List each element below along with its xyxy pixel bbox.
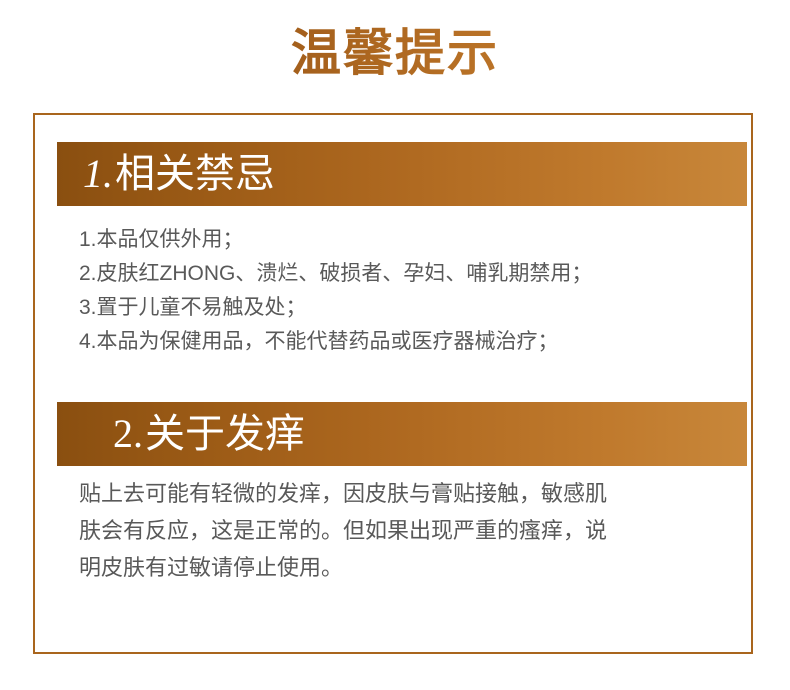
- section-header-label: 2. 关于发痒: [57, 412, 305, 456]
- list-item: 2.皮肤红ZHONG、溃烂、破损者、孕妇、哺乳期禁用；: [79, 257, 729, 291]
- list-item: 1.本品仅供外用；: [79, 223, 729, 257]
- promo-notice-page: 温馨提示 1. 相关禁忌 1.本品仅供外用； 2.皮肤红ZHONG、溃烂、破损者…: [0, 0, 790, 690]
- contraindications-list: 1.本品仅供外用； 2.皮肤红ZHONG、溃烂、破损者、孕妇、哺乳期禁用； 3.…: [79, 223, 729, 359]
- list-item: 3.置于儿童不易触及处；: [79, 291, 729, 325]
- section-header-about-itching: 2. 关于发痒: [57, 402, 747, 466]
- section-header-label: 1. 相关禁忌: [57, 152, 275, 196]
- section-number: 1.: [83, 152, 115, 196]
- paragraph-line: 肤会有反应，这是正常的。但如果出现严重的瘙痒，说: [79, 512, 729, 549]
- content-frame: 1. 相关禁忌 1.本品仅供外用； 2.皮肤红ZHONG、溃烂、破损者、孕妇、哺…: [33, 113, 753, 654]
- section-heading-text: 相关禁忌: [115, 152, 275, 196]
- page-title: 温馨提示: [0, 22, 790, 84]
- section-number: 2.: [113, 412, 145, 456]
- section-header-contraindications: 1. 相关禁忌: [57, 142, 747, 206]
- paragraph-line: 贴上去可能有轻微的发痒，因皮肤与膏贴接触，敏感肌: [79, 475, 729, 512]
- section-heading-text: 关于发痒: [145, 412, 305, 456]
- list-item: 4.本品为保健用品，不能代替药品或医疗器械治疗；: [79, 325, 729, 359]
- paragraph-line: 明皮肤有过敏请停止使用。: [79, 549, 729, 586]
- about-itching-paragraph: 贴上去可能有轻微的发痒，因皮肤与膏贴接触，敏感肌 肤会有反应，这是正常的。但如果…: [79, 475, 729, 586]
